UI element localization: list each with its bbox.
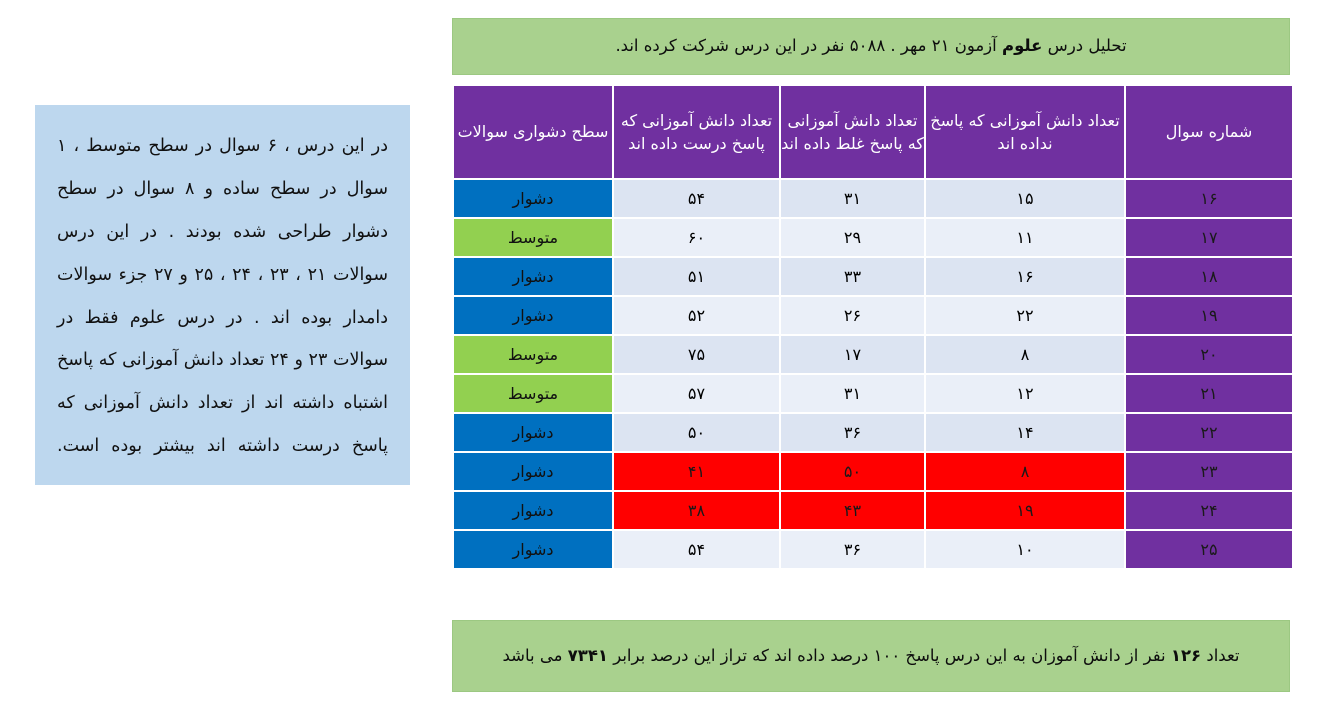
table-row: ۲۲۱۴۳۶۵۰دشوار [454,414,1292,451]
cell-correct-answer-count: ۵۲ [614,297,779,334]
footer-taraz: ۷۳۴۱ [568,646,608,665]
cell-question-number: ۲۴ [1126,492,1292,529]
column-header-correct-answer: تعداد دانش آموزانی که پاسخ درست داده اند [614,86,779,178]
header-suffix: آزمون ۲۱ مهر . ۵۰۸۸ نفر در این درس شرکت … [615,36,1002,55]
cell-no-answer-count: ۱۱ [926,219,1124,256]
footer-part2: نفر از دانش آموزان به این درس پاسخ ۱۰۰ د… [608,646,1171,665]
cell-no-answer-count: ۸ [926,336,1124,373]
cell-correct-answer-count: ۵۱ [614,258,779,295]
header-prefix: تحلیل درس [1042,36,1126,55]
cell-correct-answer-count: ۶۰ [614,219,779,256]
cell-correct-answer-count: ۷۵ [614,336,779,373]
table-row: ۲۱۱۲۳۱۵۷متوسط [454,375,1292,412]
cell-wrong-answer-count: ۳۳ [781,258,924,295]
cell-correct-answer-count: ۵۷ [614,375,779,412]
column-header-question-number: شماره سوال [1126,86,1292,178]
cell-question-number: ۱۶ [1126,180,1292,217]
cell-no-answer-count: ۲۲ [926,297,1124,334]
column-header-wrong-answer: تعداد دانش آموزانی که پاسخ غلط داده اند [781,86,924,178]
table-row: ۲۴۱۹۴۳۳۸دشوار [454,492,1292,529]
table-row: ۱۷۱۱۲۹۶۰متوسط [454,219,1292,256]
cell-no-answer-count: ۱۰ [926,531,1124,568]
cell-difficulty-level: متوسط [454,336,612,373]
cell-wrong-answer-count: ۴۳ [781,492,924,529]
header-banner: تحلیل درس علوم آزمون ۲۱ مهر . ۵۰۸۸ نفر د… [452,18,1290,75]
cell-question-number: ۲۰ [1126,336,1292,373]
cell-no-answer-count: ۱۶ [926,258,1124,295]
column-header-difficulty: سطح دشواری سوالات [454,86,612,178]
table-row: ۱۶۱۵۳۱۵۴دشوار [454,180,1292,217]
footer-banner-text: تعداد ۱۲۶ نفر از دانش آموزان به این درس … [503,642,1240,671]
footer-part3: می باشد [503,646,568,665]
cell-correct-answer-count: ۳۸ [614,492,779,529]
cell-correct-answer-count: ۵۴ [614,180,779,217]
cell-difficulty-level: متوسط [454,375,612,412]
cell-correct-answer-count: ۵۰ [614,414,779,451]
cell-question-number: ۲۳ [1126,453,1292,490]
cell-wrong-answer-count: ۲۶ [781,297,924,334]
cell-correct-answer-count: ۴۱ [614,453,779,490]
cell-question-number: ۲۲ [1126,414,1292,451]
table-header-row: شماره سوال تعداد دانش آموزانی که پاسخ ند… [454,86,1292,178]
cell-no-answer-count: ۱۵ [926,180,1124,217]
cell-wrong-answer-count: ۳۶ [781,414,924,451]
cell-difficulty-level: متوسط [454,219,612,256]
cell-no-answer-count: ۱۴ [926,414,1124,451]
cell-question-number: ۱۹ [1126,297,1292,334]
cell-no-answer-count: ۱۹ [926,492,1124,529]
table-row: ۲۵۱۰۳۶۵۴دشوار [454,531,1292,568]
cell-difficulty-level: دشوار [454,258,612,295]
footer-perfect-count: ۱۲۶ [1171,646,1201,665]
cell-difficulty-level: دشوار [454,492,612,529]
footer-part1: تعداد [1201,646,1239,665]
table-row: ۲۰۸۱۷۷۵متوسط [454,336,1292,373]
cell-difficulty-level: دشوار [454,531,612,568]
cell-wrong-answer-count: ۳۶ [781,531,924,568]
cell-difficulty-level: دشوار [454,297,612,334]
cell-wrong-answer-count: ۲۹ [781,219,924,256]
cell-difficulty-level: دشوار [454,414,612,451]
cell-no-answer-count: ۸ [926,453,1124,490]
commentary-text: در این درس ، ۶ سوال در سطح متوسط ، ۱ سوا… [57,125,388,468]
report-panel: تحلیل درس علوم آزمون ۲۱ مهر . ۵۰۸۸ نفر د… [452,18,1290,75]
cell-wrong-answer-count: ۳۱ [781,180,924,217]
cell-difficulty-level: دشوار [454,180,612,217]
footer-banner: تعداد ۱۲۶ نفر از دانش آموزان به این درس … [452,620,1290,692]
header-banner-text: تحلیل درس علوم آزمون ۲۱ مهر . ۵۰۸۸ نفر د… [615,32,1126,61]
cell-correct-answer-count: ۵۴ [614,531,779,568]
cell-wrong-answer-count: ۱۷ [781,336,924,373]
header-subject: علوم [1002,36,1042,55]
cell-question-number: ۱۷ [1126,219,1292,256]
cell-wrong-answer-count: ۳۱ [781,375,924,412]
cell-no-answer-count: ۱۲ [926,375,1124,412]
table-row: ۱۹۲۲۲۶۵۲دشوار [454,297,1292,334]
commentary-box: در این درس ، ۶ سوال در سطح متوسط ، ۱ سوا… [35,105,410,485]
cell-question-number: ۱۸ [1126,258,1292,295]
cell-question-number: ۲۱ [1126,375,1292,412]
table-row: ۱۸۱۶۳۳۵۱دشوار [454,258,1292,295]
cell-question-number: ۲۵ [1126,531,1292,568]
question-analysis-table: شماره سوال تعداد دانش آموزانی که پاسخ ند… [452,84,1294,570]
column-header-no-answer: تعداد دانش آموزانی که پاسخ نداده اند [926,86,1124,178]
cell-difficulty-level: دشوار [454,453,612,490]
table-body: ۱۶۱۵۳۱۵۴دشوار۱۷۱۱۲۹۶۰متوسط۱۸۱۶۳۳۵۱دشوار۱… [454,180,1292,568]
table-row: ۲۳۸۵۰۴۱دشوار [454,453,1292,490]
cell-wrong-answer-count: ۵۰ [781,453,924,490]
